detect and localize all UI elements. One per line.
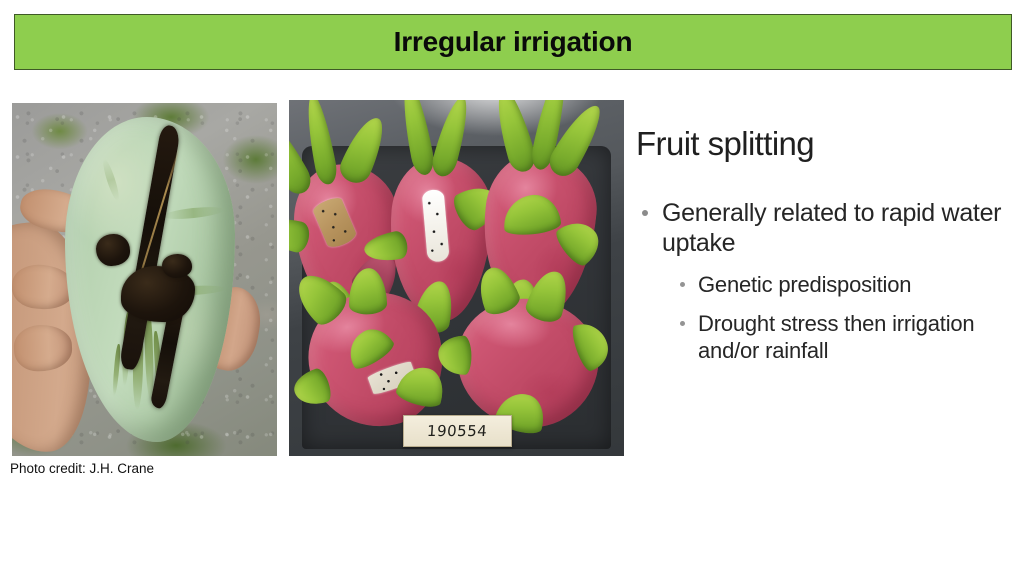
sap-drip bbox=[112, 344, 122, 396]
mango-stripe bbox=[163, 205, 225, 221]
fruit-split-crack bbox=[311, 195, 358, 250]
specimen-label-text: 190554 bbox=[427, 422, 489, 440]
split-dragonfruit-photo: 190554 bbox=[289, 100, 624, 456]
photo-credit: Photo credit: J.H. Crane bbox=[10, 461, 154, 476]
content-text-column: Fruit splitting Generally related to rap… bbox=[636, 126, 1016, 364]
fruit-split-crack bbox=[421, 189, 449, 263]
split-mango-photo bbox=[12, 103, 277, 456]
bract bbox=[341, 322, 397, 374]
bullet-dot-icon bbox=[642, 210, 648, 216]
bullet-level2: Drought stress then irrigation and/or ra… bbox=[672, 310, 1016, 365]
bullet-dot-icon bbox=[680, 321, 685, 326]
mango-lesion bbox=[96, 234, 130, 266]
section-heading: Fruit splitting bbox=[636, 126, 1016, 162]
mango-stripe bbox=[100, 157, 121, 201]
slide-title-banner: Irregular irrigation bbox=[14, 14, 1012, 70]
bract bbox=[501, 192, 562, 237]
mango-lesion bbox=[162, 254, 192, 278]
bullet-level2-text: Drought stress then irrigation and/or ra… bbox=[698, 311, 974, 363]
specimen-label: 190554 bbox=[403, 415, 512, 447]
slide-title: Irregular irrigation bbox=[394, 26, 633, 58]
bullet-level1-text: Generally related to rapid water uptake bbox=[662, 199, 1001, 258]
bullet-level2-text: Genetic predisposition bbox=[698, 272, 911, 297]
bullet-level1: Generally related to rapid water uptake bbox=[636, 198, 1016, 259]
bullet-level2: Genetic predisposition bbox=[672, 271, 1016, 298]
bullet-dot-icon bbox=[680, 282, 685, 287]
bract bbox=[289, 213, 312, 254]
